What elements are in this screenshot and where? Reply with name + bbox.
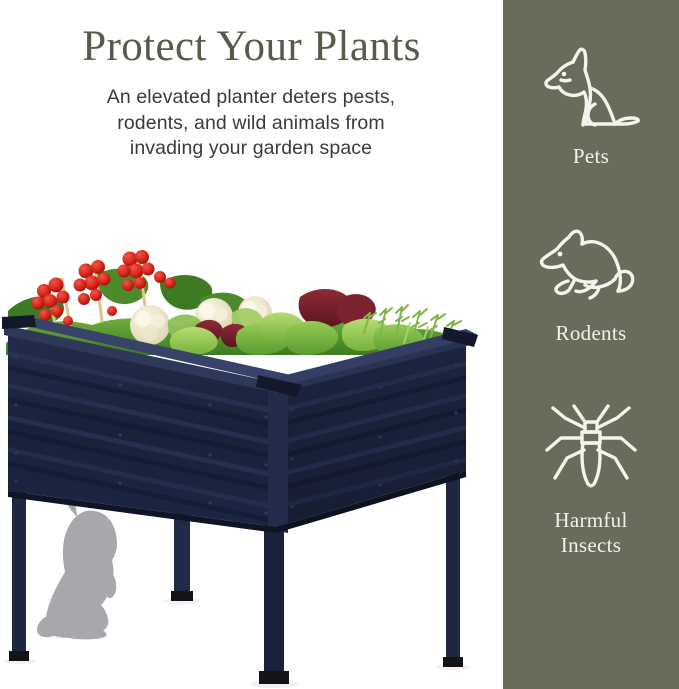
benefits-sidebar: Pets Rodents: [503, 0, 679, 689]
insect-icon: [541, 402, 641, 494]
feature-label-rodents: Rodents: [556, 321, 627, 346]
subtitle-line-2: rodents, and wild animals from: [36, 111, 466, 137]
insects-label-line-1: Harmful: [554, 508, 627, 532]
planter-box: [0, 313, 480, 573]
page-subtitle: An elevated planter deters pests, rodent…: [36, 85, 466, 162]
feature-label-insects: Harmful Insects: [554, 508, 627, 558]
feature-label-pets: Pets: [573, 144, 609, 169]
insects-label-line-2: Insects: [561, 533, 621, 557]
rodent-icon: [535, 225, 647, 307]
dog-icon: [537, 46, 645, 132]
infographic-root: Protect Your Plants An elevated planter …: [0, 0, 679, 689]
subtitle-line-1: An elevated planter deters pests,: [36, 85, 466, 111]
main-panel: Protect Your Plants An elevated planter …: [0, 0, 503, 689]
subtitle-line-3: invading your garden space: [36, 136, 466, 162]
page-title: Protect Your Plants: [0, 22, 503, 72]
product-illustration: [0, 225, 503, 689]
feature-insects: Harmful Insects: [503, 402, 679, 558]
feature-pets: Pets: [503, 46, 679, 169]
feature-rodents: Rodents: [503, 225, 679, 346]
